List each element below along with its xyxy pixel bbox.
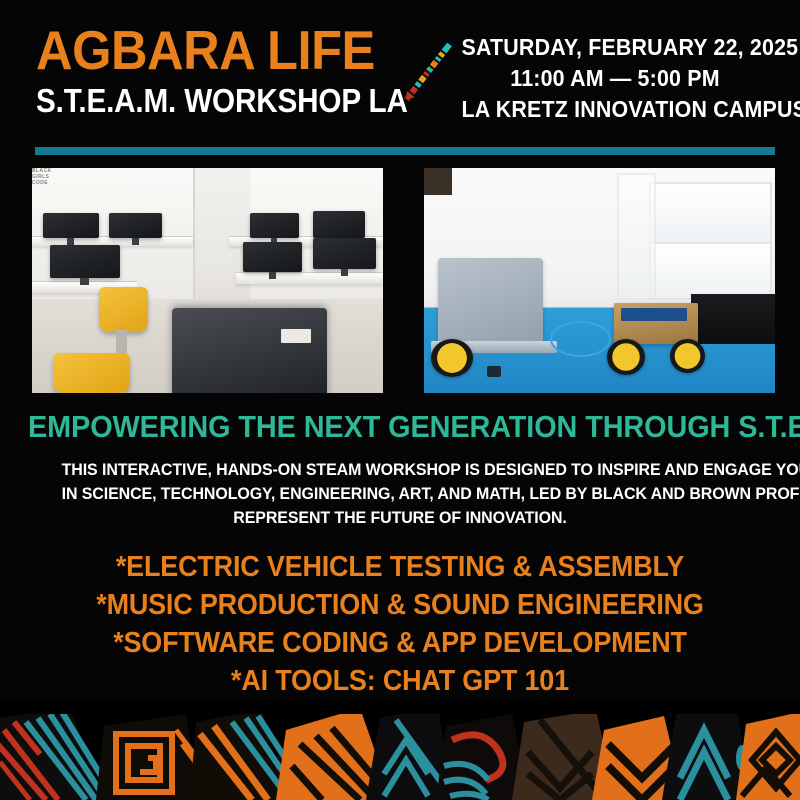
african-tribal-pattern-border xyxy=(0,700,800,800)
brand-title: AGBARA LIFE xyxy=(36,22,367,78)
event-details: SATURDAY, FEBRUARY 22, 2025 11:00 AM — 5… xyxy=(450,32,780,125)
flyer-header: AGBARA LIFE S.T.E.A.M. WORKSHOP LA xyxy=(0,0,800,140)
description-line-1: THIS INTERACTIVE, HANDS-ON STEAM WORKSHO… xyxy=(62,458,739,482)
classroom-instructor-photo: BLACK GIRLSCODE xyxy=(32,168,383,393)
offering-item: *ELECTRIC VEHICLE TESTING & ASSEMBLY xyxy=(28,548,772,586)
photo-row: BLACK GIRLSCODE xyxy=(0,168,800,393)
brand-subtitle: S.T.E.A.M. WORKSHOP LA xyxy=(36,82,360,120)
event-venue: LA KRETZ INNOVATION CAMPUS xyxy=(462,94,769,125)
offerings-list: *ELECTRIC VEHICLE TESTING & ASSEMBLY *MU… xyxy=(0,548,800,700)
event-date: SATURDAY, FEBRUARY 22, 2025 xyxy=(462,32,769,63)
section-headline: EMPOWERING THE NEXT GENERATION THROUGH S… xyxy=(28,410,772,444)
brand-block: AGBARA LIFE S.T.E.A.M. WORKSHOP LA xyxy=(36,22,396,120)
offering-item: *MUSIC PRODUCTION & SOUND ENGINEERING xyxy=(28,586,772,624)
header-divider xyxy=(35,147,775,155)
flyer-poster: AGBARA LIFE S.T.E.A.M. WORKSHOP LA xyxy=(0,0,800,800)
description-paragraph: THIS INTERACTIVE, HANDS-ON STEAM WORKSHO… xyxy=(62,458,739,530)
robotics-student-photo xyxy=(424,168,775,393)
description-line-2: IN SCIENCE, TECHNOLOGY, ENGINEERING, ART… xyxy=(62,482,739,506)
description-line-3: REPRESENT THE FUTURE OF INNOVATION. xyxy=(62,506,739,530)
offering-item: *SOFTWARE CODING & APP DEVELOPMENT xyxy=(28,624,772,662)
offering-item: *AI TOOLS: CHAT GPT 101 xyxy=(28,662,772,700)
event-time: 11:00 AM — 5:00 PM xyxy=(462,63,769,94)
